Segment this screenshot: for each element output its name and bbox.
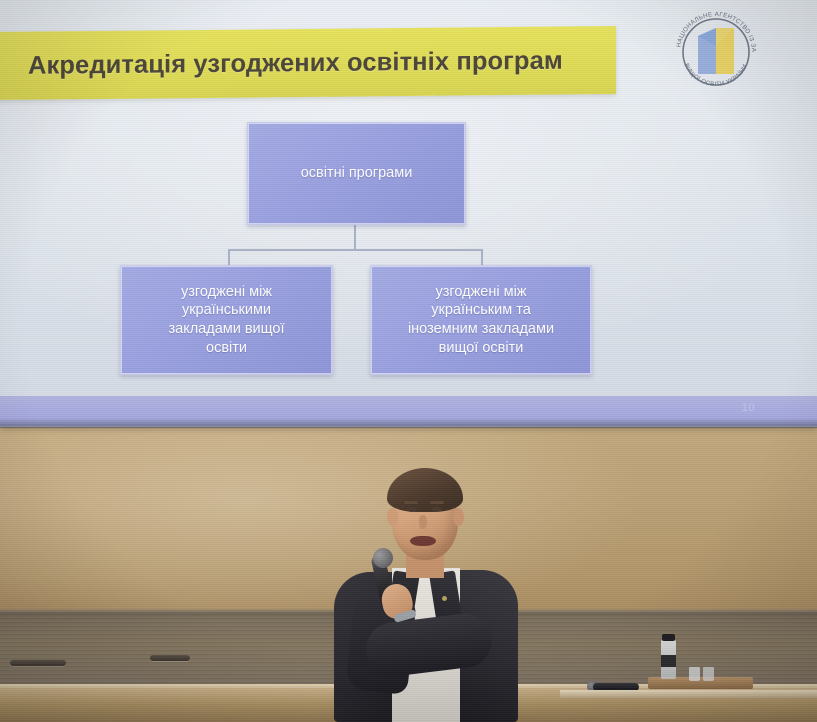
panel-handle-left (10, 660, 66, 666)
drinking-glass-1 (689, 667, 700, 681)
eye-right (431, 507, 442, 512)
drinking-glass-2 (703, 667, 714, 681)
slide: Акредитація узгоджених освітніх програм (0, 0, 817, 427)
nose (419, 515, 427, 529)
connector-right-vertical (481, 249, 483, 266)
table-edge (560, 690, 817, 698)
presentation-photo: Акредитація узгоджених освітніх програм (0, 0, 817, 722)
diagram-node-root-label: освітні програми (301, 164, 413, 183)
connector-horizontal (228, 249, 483, 251)
hair (387, 468, 463, 512)
connector-left-vertical (228, 249, 230, 266)
diagram-node-domestic-label: узгоджені між українськими закладами вищ… (168, 283, 284, 357)
panel-handle-center (150, 655, 190, 661)
mouth (410, 536, 436, 546)
eyebrow-left (404, 501, 418, 504)
lapel-pin (442, 596, 447, 601)
screen-bottom-shadow (0, 418, 817, 428)
diagram-node-domestic: узгоджені між українськими закладами вищ… (120, 265, 333, 375)
ear-left (387, 508, 398, 526)
ear-right (453, 508, 464, 526)
water-bottle-cap (662, 634, 675, 641)
diagram-node-international-label: узгоджені між українським та іноземним з… (408, 283, 554, 357)
projection-screen: Акредитація узгоджених освітніх програм (0, 0, 817, 427)
diagram-node-root: освітні програми (247, 122, 466, 225)
diagram-node-international: узгоджені між українським та іноземним з… (370, 265, 592, 375)
slide-number: 10 (742, 402, 755, 414)
speaker (330, 468, 520, 722)
eye-left (406, 507, 417, 512)
connector-root-vertical (354, 223, 356, 251)
eyebrow-right (430, 501, 444, 504)
water-bottle-label (661, 655, 676, 667)
naqa-ukraine-logo: НАЦІОНАЛЬНЕ АГЕНТСТВО ІЗ ЗАБЕЗПЕЧЕННЯ ЯК… (668, 6, 764, 94)
slide-title: Акредитація узгоджених освітніх програм (28, 31, 608, 95)
